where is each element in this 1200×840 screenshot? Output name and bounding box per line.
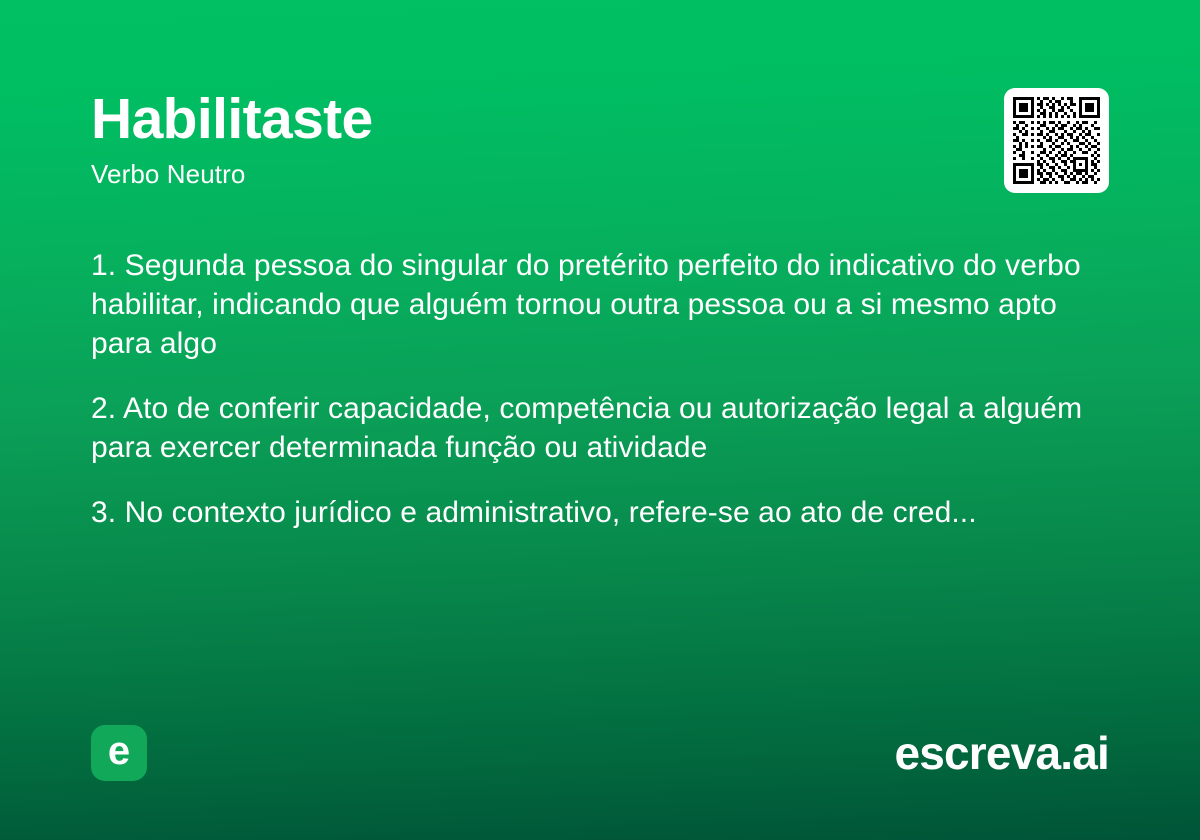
brand-logo-letter: e [108, 731, 130, 771]
heading-group: Habilitaste Verbo Neutro [91, 88, 373, 189]
qr-code-card[interactable] [1004, 88, 1109, 193]
page-title: Habilitaste [91, 90, 373, 148]
definition-item: 1. Segunda pessoa do singular do pretéri… [91, 246, 1103, 363]
definition-card: Habilitaste Verbo Neutro [0, 0, 1200, 840]
definition-item: 3. No contexto jurídico e administrativo… [91, 493, 1103, 532]
definition-item: 2. Ato de conferir capacidade, competênc… [91, 389, 1103, 467]
word-class-label: Verbo Neutro [91, 160, 373, 189]
brand-wordmark: escreva.ai [894, 730, 1109, 776]
card-footer: e escreva.ai [91, 725, 1109, 781]
qr-code-icon [1013, 97, 1100, 184]
brand-logo-icon: e [91, 725, 147, 781]
card-header: Habilitaste Verbo Neutro [91, 88, 1109, 193]
definition-list: 1. Segunda pessoa do singular do pretéri… [91, 246, 1103, 532]
